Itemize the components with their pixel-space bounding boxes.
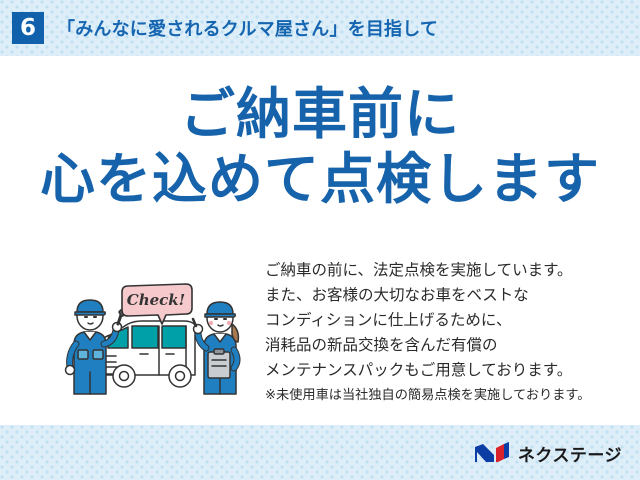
brand-name: ネクステージ	[518, 441, 622, 466]
body-line-2: また、お客様の大切なお車をベストな	[265, 283, 625, 308]
header-title: 「みんなに愛されるクルマ屋さん」を目指して	[57, 15, 438, 41]
body-line-5: メンテナンスパックもご用意しております。	[265, 358, 625, 383]
body-line-3: コンディションに仕上げるために、	[265, 308, 625, 333]
header: 6 「みんなに愛されるクルマ屋さん」を目指して	[0, 0, 640, 56]
body-line-4: 消耗品の新品交換を含んだ有償の	[265, 333, 625, 358]
body-copy: ご納車の前に、法定点検を実施しています。 また、お客様の大切なお車をベストな コ…	[265, 258, 625, 406]
speech-bubble-text: Check!	[127, 291, 186, 309]
illustration-svg: Check!	[62, 272, 258, 402]
body-disclaimer-note: ※未使用車は当社独自の簡易点検を実施しております。	[265, 385, 625, 406]
brand-logo: ネクステージ	[474, 440, 622, 466]
female-mechanic	[193, 302, 238, 394]
advertisement-page: 6 「みんなに愛されるクルマ屋さん」を目指して ご納車前に 心を込めて点検します…	[0, 0, 640, 480]
nextage-n-logo-icon	[474, 441, 510, 465]
step-number-badge: 6	[12, 12, 44, 44]
body-line-1: ご納車の前に、法定点検を実施しています。	[265, 258, 625, 283]
headline-line-1: ご納車前に	[0, 82, 640, 147]
headline-line-2: 心を込めて点検します	[0, 147, 640, 212]
page-title: ご納車前に 心を込めて点検します	[0, 82, 640, 212]
mechanics-illustration: Check!	[62, 272, 258, 402]
